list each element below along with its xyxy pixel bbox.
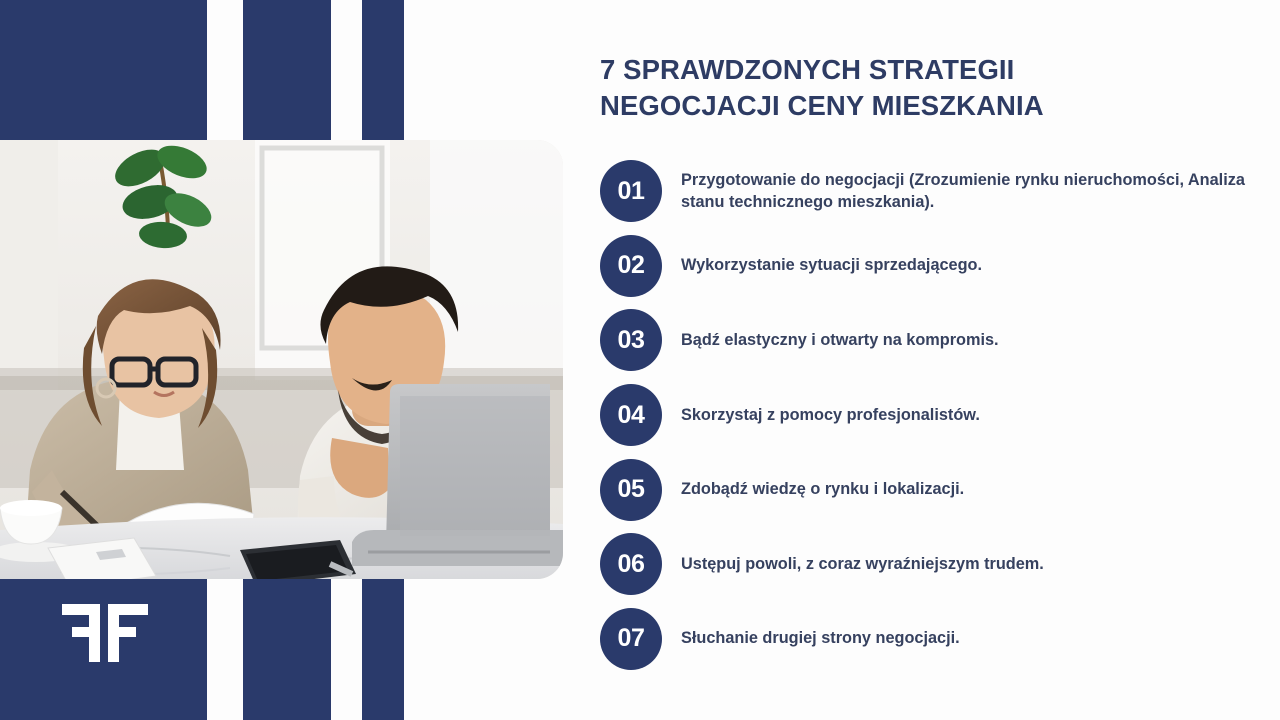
step-text: Przygotowanie do negocjacji (Zrozumienie… <box>681 169 1251 213</box>
step-number-badge: 05 <box>600 459 662 521</box>
step-number-badge: 07 <box>600 608 662 670</box>
page-title-line-1: 7 SPRAWDZONYCH STRATEGII <box>600 52 1240 88</box>
step-text: Słuchanie drugiej strony negocjacji. <box>681 627 960 650</box>
step-number-badge: 04 <box>600 384 662 446</box>
list-item: 05 Zdobądź wiedzę o rynku i lokalizacji. <box>600 452 1260 527</box>
step-text: Zdobądź wiedzę o rynku i lokalizacji. <box>681 478 964 501</box>
step-text: Bądź elastyczny i otwarty na kompromis. <box>681 329 999 352</box>
list-item: 01 Przygotowanie do negocjacji (Zrozumie… <box>600 154 1260 229</box>
step-text: Wykorzystanie sytuacji sprzedającego. <box>681 254 982 277</box>
list-item: 03 Bądź elastyczny i otwarty na kompromi… <box>600 303 1260 378</box>
navy-bar-bottom-middle <box>243 579 331 720</box>
step-number-badge: 06 <box>600 533 662 595</box>
steps-list: 01 Przygotowanie do negocjacji (Zrozumie… <box>600 154 1260 676</box>
couple-reviewing-documents-photo <box>0 140 563 579</box>
list-item: 06 Ustępuj powoli, z coraz wyraźniejszym… <box>600 527 1260 602</box>
slide-root: 7 SPRAWDZONYCH STRATEGII NEGOCJACJI CENY… <box>0 0 1280 720</box>
step-number-badge: 02 <box>600 235 662 297</box>
step-number-badge: 03 <box>600 309 662 371</box>
navy-bar-top-middle <box>243 0 331 141</box>
list-item: 07 Słuchanie drugiej strony negocjacji. <box>600 602 1260 677</box>
navy-bar-bottom-thin <box>362 579 404 720</box>
page-title-line-2: NEGOCJACJI CENY MIESZKANIA <box>600 88 1240 124</box>
content-panel: 7 SPRAWDZONYCH STRATEGII NEGOCJACJI CENY… <box>600 0 1260 720</box>
step-text: Skorzystaj z pomocy profesjonalistów. <box>681 404 980 427</box>
navy-block-top-left <box>0 0 207 141</box>
page-title: 7 SPRAWDZONYCH STRATEGII NEGOCJACJI CENY… <box>600 52 1240 124</box>
double-f-logo <box>62 604 148 662</box>
list-item: 02 Wykorzystanie sytuacji sprzedającego. <box>600 229 1260 304</box>
list-item: 04 Skorzystaj z pomocy profesjonalistów. <box>600 378 1260 453</box>
step-number-badge: 01 <box>600 160 662 222</box>
step-text: Ustępuj powoli, z coraz wyraźniejszym tr… <box>681 553 1044 576</box>
navy-bar-top-thin <box>362 0 404 141</box>
